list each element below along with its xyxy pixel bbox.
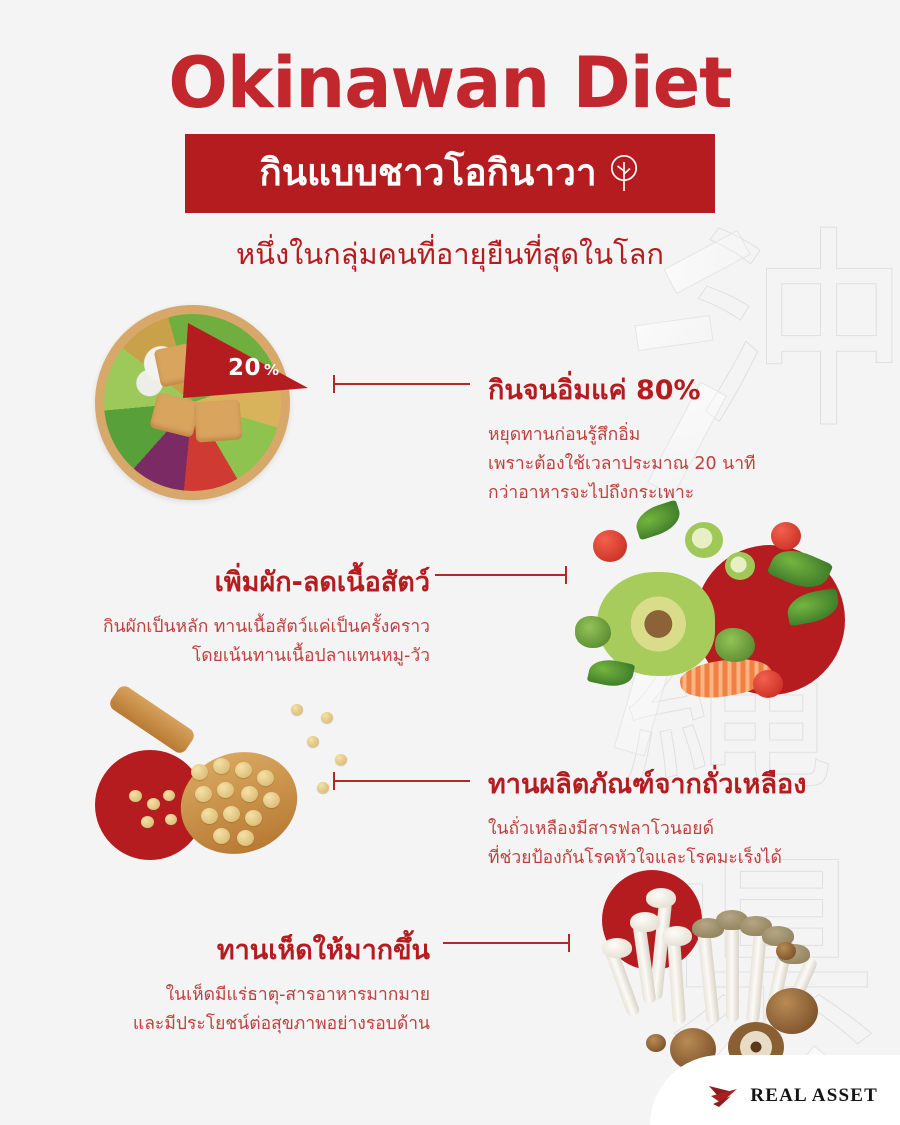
soybean-spoon-photo — [95, 698, 345, 863]
connector-line-4 — [443, 934, 570, 952]
thai-title-banner: กินแบบชาวโอกินาวา — [185, 134, 715, 213]
twenty-percent-label: 20% — [228, 355, 280, 381]
broccoli-image — [575, 616, 611, 648]
lettuce-leaf-image — [632, 500, 684, 541]
section-more-veg-less-meat: เพิ่มผัก-ลดเนื้อสัตว์ กินผักเป็นหลัก ทาน… — [0, 500, 900, 710]
vegetables-salmon-photo — [575, 500, 895, 710]
shiitake-mushroom-small — [776, 942, 796, 960]
broccoli-image — [715, 628, 755, 662]
enoki-mushroom-cap — [602, 938, 632, 958]
shimeji-mushroom — [697, 930, 720, 1025]
cucumber-image — [685, 522, 723, 558]
banner-label: กินแบบชาวโอกินาวา — [259, 143, 596, 202]
cucumber-image — [725, 552, 755, 580]
section-4-text: ทานเห็ดให้มากขึ้น ในเห็ดมีแร่ธาตุ-สารอาห… — [110, 928, 430, 1039]
badge-unit: % — [264, 361, 280, 379]
section-2-text: เพิ่มผัก-ลดเนื้อสัตว์ กินผักเป็นหลัก ทาน… — [100, 560, 430, 671]
section-2-heading: เพิ่มผัก-ลดเนื้อสัตว์ — [100, 560, 430, 603]
body-line: กินผักเป็นหลัก ทานเนื้อสัตว์แค่เป็นครั้ง… — [100, 613, 430, 642]
section-1-heading: กินจนอิ่มแค่ 80% — [488, 368, 798, 411]
tree-icon — [607, 154, 641, 192]
section-3-heading: ทานผลิตภัณฑ์จากถั่วเหลือง — [488, 762, 828, 805]
enoki-mushroom-cap — [662, 926, 692, 946]
connector-line-1 — [333, 375, 470, 393]
chevron-arrow-icon — [707, 1083, 741, 1109]
page-title: Okinawan Diet — [0, 0, 900, 124]
body-line: โดยเน้นทานเนื้อปลาแทนหมู-วัว — [100, 642, 430, 671]
badge-value: 20 — [228, 355, 261, 381]
connector-line-3 — [333, 772, 470, 790]
spoon-bowl — [167, 737, 310, 869]
section-3-text: ทานผลิตภัณฑ์จากถั่วเหลือง ในถั่วเหลืองมี… — [488, 762, 828, 873]
infographic-poster: 沖 縄 県 Okinawan Diet กินแบบชาวโอกินาวา หน… — [0, 0, 900, 1125]
body-line: ในเห็ดมีแร่ธาตุ-สารอาหารมากมาย — [110, 981, 430, 1010]
body-line: ในถั่วเหลืองมีสารฟลาโวนอยด์ — [488, 815, 828, 844]
spoon-handle — [107, 683, 197, 756]
body-line: หยุดทานก่อนรู้สึกอิ่ม — [488, 421, 798, 450]
section-1-text: กินจนอิ่มแค่ 80% หยุดทานก่อนรู้สึกอิ่ม เ… — [488, 368, 798, 508]
page-subtitle: หนึ่งในกลุ่มคนที่อายุยืนที่สุดในโลก — [0, 231, 900, 277]
enoki-mushroom-cap — [646, 888, 676, 908]
body-line: และมีประโยชน์ต่อสุขภาพอย่างรอบด้าน — [110, 1010, 430, 1039]
footer-logo-plate: REAL ASSET — [650, 1055, 900, 1125]
section-eat-80-percent: 20% กินจนอิ่มแค่ 80% หยุดทานก่อนรู้สึกอิ… — [0, 295, 900, 505]
shiitake-mushroom — [766, 988, 818, 1034]
body-line: เพราะต้องใช้เวลาประมาณ 20 นาที — [488, 450, 798, 479]
poster-header: Okinawan Diet กินแบบชาวโอกินาวา หนึ่งในก… — [0, 0, 900, 277]
salad-bowl-photo: 20% — [95, 305, 325, 500]
section-4-heading: ทานเห็ดให้มากขึ้น — [110, 928, 430, 971]
tomato-image — [771, 522, 801, 550]
mushrooms-photo — [580, 860, 880, 1085]
connector-line-2 — [435, 566, 567, 584]
section-1-body: หยุดทานก่อนรู้สึกอิ่ม เพราะต้องใช้เวลาปร… — [488, 421, 798, 508]
shiitake-mushroom-small — [646, 1034, 666, 1052]
brand-logo-text: REAL ASSET — [750, 1085, 878, 1107]
enoki-mushroom-cap — [630, 912, 660, 932]
section-4-body: ในเห็ดมีแร่ธาตุ-สารอาหารมากมาย และมีประโ… — [110, 981, 430, 1039]
brand-logo[interactable]: REAL ASSET — [707, 1083, 878, 1109]
tomato-image — [593, 530, 627, 562]
shimeji-mushroom — [726, 922, 739, 1022]
section-2-body: กินผักเป็นหลัก ทานเนื้อสัตว์แค่เป็นครั้ง… — [100, 613, 430, 671]
